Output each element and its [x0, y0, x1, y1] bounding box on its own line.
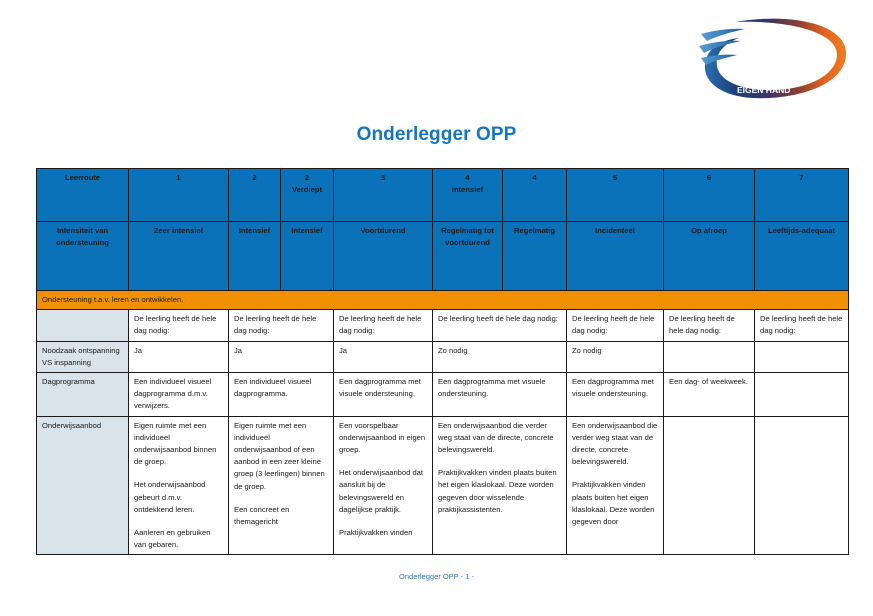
- table-row: Dagprogramma Een individueel visueel dag…: [37, 373, 849, 417]
- table-row: De leerling heeft de hele dag nodig: De …: [37, 310, 849, 341]
- row-cell: Een dagprogramma met visuele ondersteuni…: [334, 373, 433, 417]
- intensiteit-col-1: Zeer intensief: [129, 222, 229, 291]
- table-row: Noodzaak ontspanning VS inspanning Ja Ja…: [37, 341, 849, 372]
- row-cell: De leerling heeft de hele dag nodig:: [433, 310, 567, 341]
- intensiteit-col-6: Op afroep: [664, 222, 755, 291]
- row-cell: De leerling heeft de hele dag nodig:: [334, 310, 433, 341]
- header-label-intensiteit: Intensiteit van ondersteuning: [37, 222, 129, 291]
- row-cell: Zo nodig: [433, 341, 567, 372]
- header-col-6: 6: [664, 169, 755, 222]
- intensiteit-col-3: Voortdurend: [334, 222, 433, 291]
- row-label: Onderwijsaanbod: [37, 416, 129, 555]
- row-label: Noodzaak ontspanning VS inspanning: [37, 341, 129, 372]
- row-cell: De leerling heeft de hele dag nodig:: [129, 310, 229, 341]
- row-label: Dagprogramma: [37, 373, 129, 417]
- row-label: [37, 310, 129, 341]
- onderlegger-opp-table: Leerroute 1 2 2Verdiept 3 4intensief 4 5…: [36, 168, 849, 555]
- row-cell: Eigen ruimte met een individueel onderwi…: [129, 416, 229, 555]
- table-body: Leerroute 1 2 2Verdiept 3 4intensief 4 5…: [37, 169, 849, 555]
- row-cell: Ja: [129, 341, 229, 372]
- row-cell: Een individueel visueel dagprogramma.: [229, 373, 334, 417]
- section-bar-ondersteuning: Ondersteuning t.a.v. leren en ontwikkele…: [37, 291, 849, 310]
- header-row-intensiteit: Intensiteit van ondersteuning Zeer inten…: [37, 222, 849, 291]
- intensiteit-col-4-intensief: Regelmatig tot voortdurend: [433, 222, 503, 291]
- header-col-4-intensief: 4intensief: [433, 169, 503, 222]
- intensiteit-col-4: Regelmatig: [503, 222, 567, 291]
- header-col-3: 3: [334, 169, 433, 222]
- intensiteit-col-5: Incidenteel: [567, 222, 664, 291]
- row-cell: Een onderwijsaanbod die verder weg staat…: [567, 416, 664, 555]
- header-col-2: 2: [229, 169, 281, 222]
- row-cell: Ja: [334, 341, 433, 372]
- row-cell: Eigen ruimte met een individueel onderwi…: [229, 416, 334, 555]
- row-cell: De leerling heeft de hele dag nodig:: [229, 310, 334, 341]
- row-cell: Zo nodig: [567, 341, 664, 372]
- page-footer: Onderlegger OPP - 1 -: [0, 572, 873, 581]
- intensiteit-col-7: Leeftijds-adequaat: [755, 222, 849, 291]
- header-col-4: 4: [503, 169, 567, 222]
- row-cell: [755, 373, 849, 417]
- header-col-2-verdiept: 2Verdiept: [281, 169, 334, 222]
- row-cell: [664, 341, 755, 372]
- logo-tagline-line2: EIGEN HAND: [737, 85, 790, 95]
- row-cell: Een individueel visueel dagprogramma d.m…: [129, 373, 229, 417]
- logo-svg: Breda College REGIE IN EIGEN HAND: [699, 14, 851, 102]
- intensiteit-col-2: Intensief: [229, 222, 281, 291]
- header-label-leerroute: Leerroute: [37, 169, 129, 222]
- logo-name-line2: College: [730, 52, 809, 77]
- header-col-1: 1: [129, 169, 229, 222]
- table-row: Onderwijsaanbod Eigen ruimte met een ind…: [37, 416, 849, 555]
- breda-college-logo: Breda College REGIE IN EIGEN HAND: [699, 14, 851, 102]
- row-cell: [664, 416, 755, 555]
- page-title: Onderlegger OPP: [0, 124, 873, 146]
- opp-table-container: Leerroute 1 2 2Verdiept 3 4intensief 4 5…: [36, 168, 848, 555]
- row-cell: Een dagprogramma met visuele ondersteuni…: [433, 373, 567, 417]
- section-bar-row: Ondersteuning t.a.v. leren en ontwikkele…: [37, 291, 849, 310]
- row-cell: Een dagprogramma met visuele ondersteuni…: [567, 373, 664, 417]
- row-cell: De leerling heeft de hele dag nodig:: [567, 310, 664, 341]
- row-cell: Een dag- of weekweek.: [664, 373, 755, 417]
- row-cell: [755, 341, 849, 372]
- row-cell: Een onderwijsaanbod die verder weg staat…: [433, 416, 567, 555]
- row-cell: De leerling heeft de hele dag nodig:: [755, 310, 849, 341]
- row-cell: [755, 416, 849, 555]
- logo-tagline-line1: REGIE IN: [747, 75, 784, 85]
- row-cell: Een voorspelbaar onderwijsaanbod in eige…: [334, 416, 433, 555]
- header-row-leerroute: Leerroute 1 2 2Verdiept 3 4intensief 4 5…: [37, 169, 849, 222]
- row-cell: Ja: [229, 341, 334, 372]
- header-col-5: 5: [567, 169, 664, 222]
- intensiteit-col-2-verdiept: Intensief: [281, 222, 334, 291]
- header-col-7: 7: [755, 169, 849, 222]
- row-cell: De leerling heeft de hele dag nodig:: [664, 310, 755, 341]
